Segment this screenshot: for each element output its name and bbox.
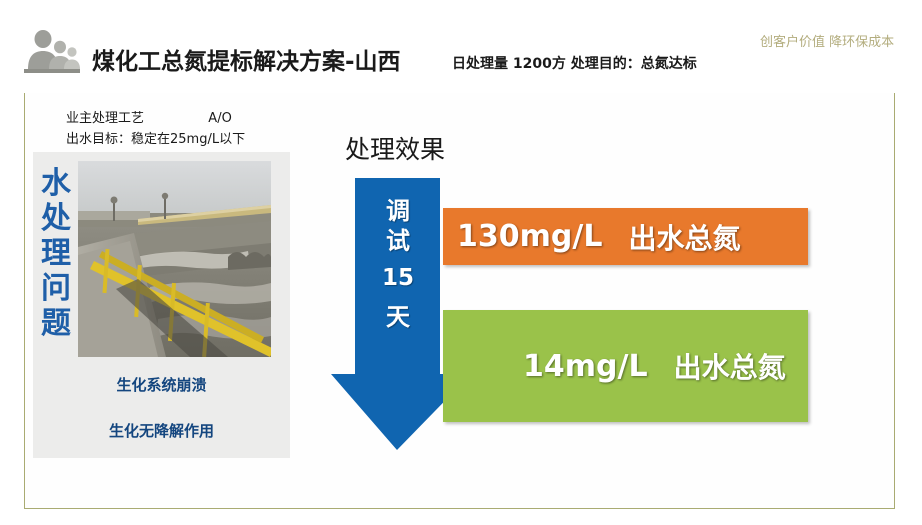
problem-caption-2: 生化无降解作用 xyxy=(33,420,290,441)
aeration-basin-photo xyxy=(78,161,271,357)
header-tagline: 创客户价值 降环保成本 xyxy=(760,31,894,50)
vertical-char-4: 问 xyxy=(34,271,78,306)
header-subtitle: 日处理量 1200方 处理目的：总氮达标 xyxy=(452,53,697,73)
treatment-effect-heading: 处理效果 xyxy=(345,130,445,166)
slide-header: 煤化工总氮提标解决方案-山西 日处理量 1200方 处理目的：总氮达标 创客户价… xyxy=(0,0,922,92)
result-value-before: 130mg/L xyxy=(443,219,602,254)
commissioning-arrow-label: 调 试 15 天 xyxy=(355,196,441,334)
vertical-char-1: 水 xyxy=(34,166,78,201)
vertical-char-2: 处 xyxy=(34,201,78,236)
problem-caption-1: 生化系统崩溃 xyxy=(33,374,290,395)
result-bar-before: 130mg/L 出水总氮 xyxy=(443,208,808,265)
vertical-problem-label: 水 处 理 问 题 xyxy=(34,166,78,341)
vertical-char-5: 题 xyxy=(34,306,78,341)
owner-process-line: 业主处理工艺 A/O xyxy=(66,107,232,126)
arrow-line-4: 天 xyxy=(355,300,441,334)
vertical-char-3: 理 xyxy=(34,236,78,271)
result-value-after: 14mg/L xyxy=(443,349,648,384)
arrow-line-2: 试 xyxy=(355,226,441,256)
result-label-before: 出水总氮 xyxy=(602,217,740,257)
page-title: 煤化工总氮提标解决方案-山西 xyxy=(92,42,401,76)
effluent-target-text: 出水目标：稳定在25mg/L以下 xyxy=(66,128,245,147)
arrow-line-3: 15 xyxy=(355,256,441,300)
owner-process-label: 业主处理工艺 xyxy=(66,111,144,126)
people-group-icon xyxy=(22,28,80,76)
result-label-after: 出水总氮 xyxy=(648,346,786,386)
slide-canvas: 煤化工总氮提标解决方案-山西 日处理量 1200方 处理目的：总氮达标 创客户价… xyxy=(0,0,922,525)
owner-process-value: A/O xyxy=(208,111,232,126)
result-bar-after: 14mg/L 出水总氮 xyxy=(443,310,808,422)
arrow-line-1: 调 xyxy=(355,196,441,226)
